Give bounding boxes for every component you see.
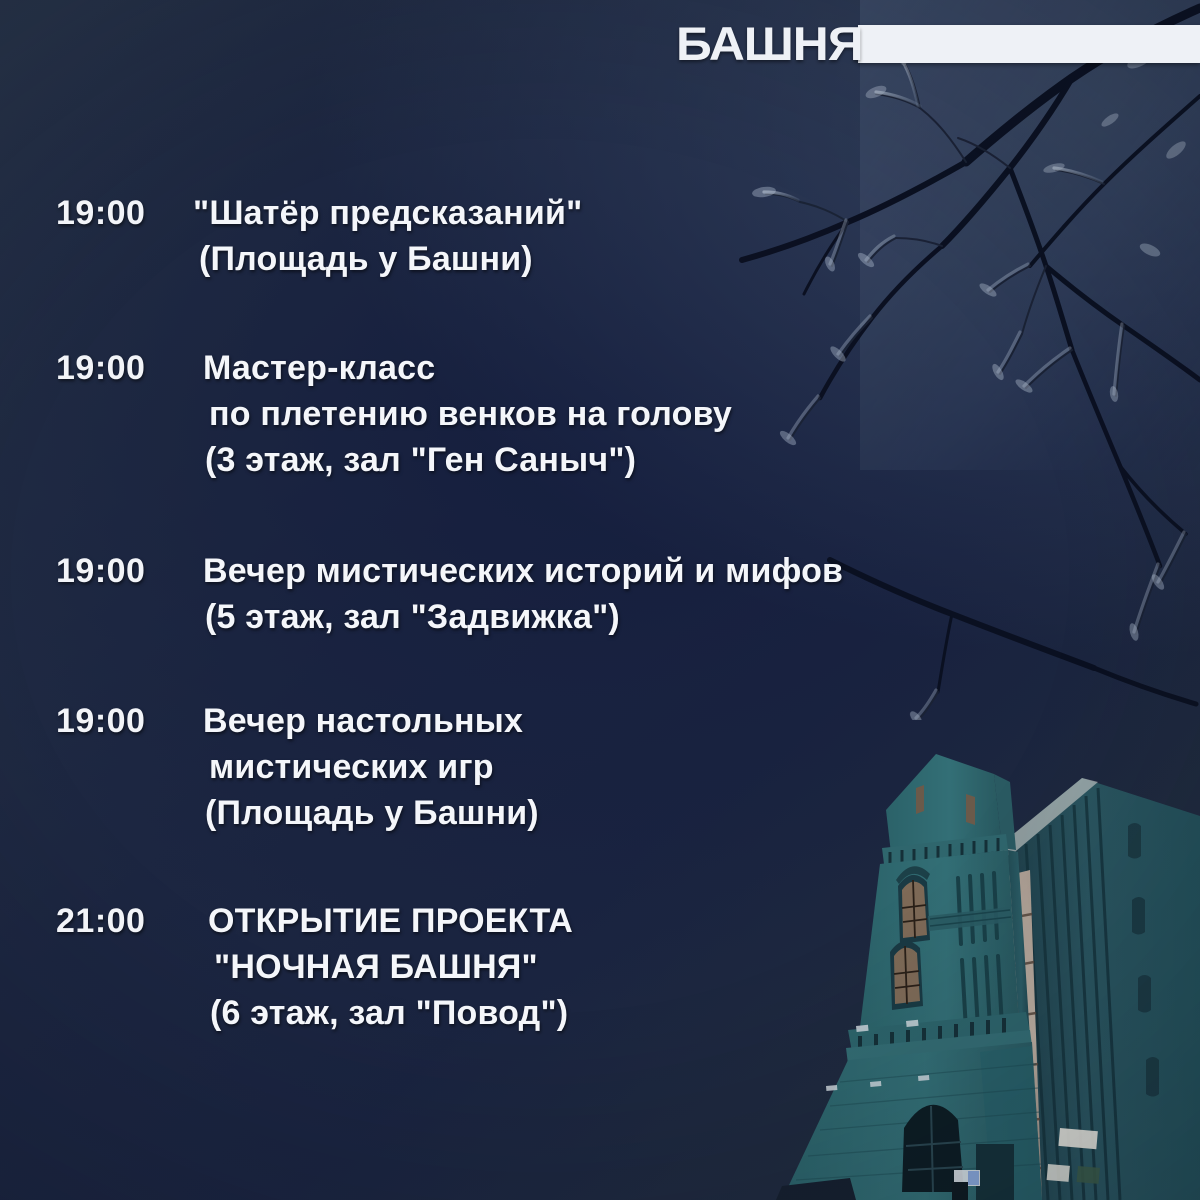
schedule-entry: 19:00 Вечер мистических историй и мифов … <box>56 548 843 640</box>
entry-line: "НОЧНАЯ БАШНЯ" <box>208 944 573 990</box>
entry-text: Мастер-класс по плетению венков на голов… <box>203 345 732 483</box>
entry-line: Мастер-класс <box>203 345 732 391</box>
entry-line: "Шатёр предсказаний" <box>193 190 582 236</box>
entry-line: ОТКРЫТИЕ ПРОЕКТА <box>208 898 573 944</box>
schedule-entry: 19:00 Вечер настольных мистических игр (… <box>56 698 539 836</box>
entry-line: Вечер настольных <box>203 698 539 744</box>
entry-time: 19:00 <box>56 548 203 594</box>
schedule-entry: 19:00 "Шатёр предсказаний" (Площадь у Ба… <box>56 190 582 282</box>
entry-time: 21:00 <box>56 898 208 944</box>
entry-text: Вечер настольных мистических игр (Площад… <box>203 698 539 836</box>
schedule-entry: 19:00 Мастер-класс по плетению венков на… <box>56 345 732 483</box>
schedule-list: 19:00 "Шатёр предсказаний" (Площадь у Ба… <box>0 0 1200 1200</box>
entry-line: (5 этаж, зал "Задвижка") <box>203 594 843 640</box>
entry-line: (3 этаж, зал "Ген Саныч") <box>203 437 732 483</box>
entry-text: Вечер мистических историй и мифов (5 эта… <box>203 548 843 640</box>
entry-time: 19:00 <box>56 190 193 236</box>
entry-line: (Площадь у Башни) <box>193 236 582 282</box>
entry-time: 19:00 <box>56 345 203 391</box>
entry-line: (6 этаж, зал "Повод") <box>208 990 573 1036</box>
entry-line: Вечер мистических историй и мифов <box>203 548 843 594</box>
entry-line: (Площадь у Башни) <box>203 790 539 836</box>
entry-line: по плетению венков на голову <box>203 391 732 437</box>
entry-text: ОТКРЫТИЕ ПРОЕКТА "НОЧНАЯ БАШНЯ" (6 этаж,… <box>208 898 573 1036</box>
entry-line: мистических игр <box>203 744 539 790</box>
poster: БАШНЯ 19:00 "Шатёр предсказаний" (Площад… <box>0 0 1200 1200</box>
entry-text: "Шатёр предсказаний" (Площадь у Башни) <box>193 190 582 282</box>
entry-time: 19:00 <box>56 698 203 744</box>
schedule-entry: 21:00 ОТКРЫТИЕ ПРОЕКТА "НОЧНАЯ БАШНЯ" (6… <box>56 898 573 1036</box>
